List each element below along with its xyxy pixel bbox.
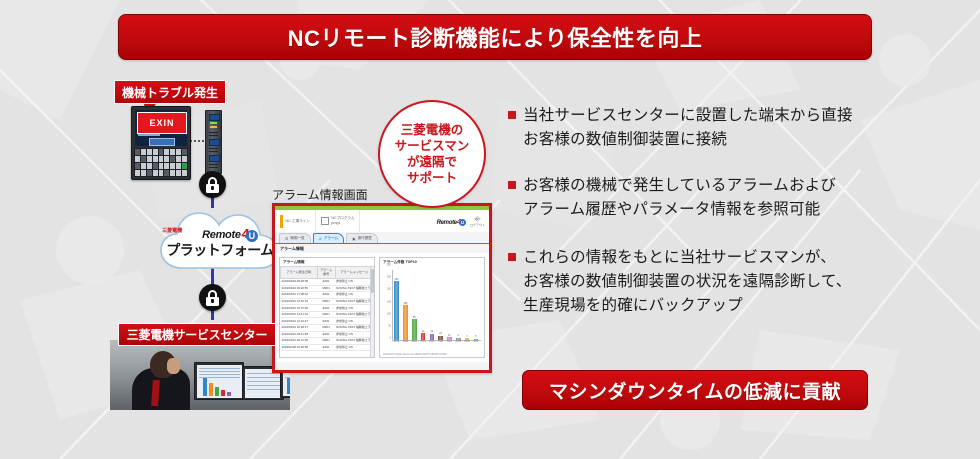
tab-operation-history-label: 操作履歴 (358, 236, 372, 241)
chart-bar-value-label: 26 (429, 330, 434, 333)
service-center-label: 三菱電機サービスセンター (118, 323, 276, 346)
app-logo-u-badge: U (459, 219, 466, 226)
alarm-screen-caption: アラーム情報画面 (272, 186, 368, 203)
bullet-3-line-2: お客様の数値制御装置の状況を遠隔診断して、 (523, 270, 851, 294)
logout-label: ログアウト (470, 223, 485, 227)
chart-y-axis: 050100150200250300 (381, 268, 392, 341)
bottom-banner-text: マシンダウンタイムの低減に貢献 (549, 377, 841, 404)
bullet-1-line-1: 当社サービスセンターに設置した端末から直接 (523, 104, 853, 128)
chart-bar-rect (412, 319, 417, 340)
header-machine-item[interactable]: NC-工場ライン (275, 210, 316, 232)
chart-x-tick-label: P004 (447, 341, 452, 343)
nc-alarm-text: EXIN (149, 118, 174, 128)
chart-bar: 9A005 (455, 270, 460, 340)
chart-bar-value-label: 148 (403, 302, 408, 305)
list-icon: ☰ (285, 237, 288, 241)
bullet-item-1-text: 当社サービスセンターに設置した端末から直接 お客様の数値制御装置に接続 (523, 104, 853, 152)
nc-panel-screen: EXIN (135, 110, 187, 146)
nc-keypad[interactable] (134, 148, 188, 177)
lock-icon-lower (199, 284, 226, 311)
bullet-2-line-2: アラーム履歴やパラメータ情報を参照可能 (523, 198, 836, 222)
bullet-marker-icon (508, 181, 516, 189)
callout-line-2: サービスマン (395, 138, 470, 154)
chart-bar-value-label: 18 (438, 332, 443, 335)
chart-x-tick-label: B006 (464, 341, 469, 343)
chart-bar-rect (447, 337, 452, 340)
tab-operation-history[interactable]: ▣ 操作履歴 (346, 233, 378, 243)
network-router-device (205, 110, 222, 174)
chart-bar-rect (465, 338, 470, 340)
bullet-1-line-2: お客様の数値制御装置に接続 (523, 128, 853, 152)
cell-alarm-message: 非常停止 ON (335, 344, 373, 351)
bullet-item-3-text: これらの情報をもとに当社サービスマンが、 お客様の数値制御装置の状況を遠隔診断し… (523, 246, 851, 318)
app-content-area: アラーム情報 アラーム発生日時 アラーム番号 アラームメッセージ 2019/03… (275, 253, 489, 362)
alarm-count-chart-panel: アラーム件数 TOP10 050100150200250300 252EX011… (379, 257, 485, 358)
chart-y-tick: 50 (388, 324, 391, 327)
lock-icon-upper (199, 171, 226, 198)
chart-x-tick-label: A005 (455, 341, 460, 343)
logout-button[interactable]: ⎆ ログアウト (470, 216, 485, 227)
chart-title: アラーム件数 TOP10 (380, 258, 484, 265)
callout-line-1: 三菱電機の (401, 122, 464, 138)
alarm-information-screen: 2019/03/01 10:00 NC-工場ライン NCプログラム prog1 … (272, 203, 492, 373)
col-alarm-number: アラーム番号 (317, 267, 335, 279)
table-row[interactable]: 2019/02/28 16:30:58EX01非常停止 ON (281, 344, 374, 351)
alarm-table-body: 2019/03/02 09:28:08EX01非常停止 ON2019/03/02… (281, 279, 374, 351)
chart-bar-rect (403, 305, 408, 340)
chart-bar: 252EX01 (394, 270, 399, 340)
chart-bar-rect (421, 333, 426, 340)
service-support-callout: 三菱電機の サービスマン が遠隔で サポート (378, 100, 486, 208)
callout-line-3: が遠隔で (407, 154, 457, 170)
chart-y-tick: 150 (387, 300, 391, 303)
tab-alarm[interactable]: ⚠ アラーム (313, 233, 345, 243)
cloud-label-group: 三菱電機 Remote 4 U プラットフォーム (158, 206, 282, 272)
app-tab-bar: ☰ 稼働一覧 ⚠ アラーム ▣ 操作履歴 (275, 232, 489, 244)
chart-x-tick-label: Z101 (420, 341, 425, 343)
header-program-label: NCプログラム (331, 216, 354, 220)
chart-x-tick-label: T003 (438, 341, 443, 343)
chart-bar-value-label: 88 (411, 316, 416, 319)
chart-bar-value-label: 30 (420, 330, 425, 333)
chart-bar: 5C007 (473, 270, 478, 340)
bullet-item-1: 当社サービスセンターに設置した端末から直接 お客様の数値制御装置に接続 (508, 104, 908, 152)
chart-bar: 11P004 (447, 270, 452, 340)
bullet-item-3: これらの情報をもとに当社サービスマンが、 お客様の数値制御装置の状況を遠隔診断し… (508, 246, 908, 318)
machine-trouble-label-text: 機械トラブル発生 (122, 84, 218, 101)
machine-trouble-label: 機械トラブル発生 (114, 80, 226, 104)
bullet-marker-icon (508, 253, 516, 261)
col-alarm-message: アラームメッセージ (335, 267, 373, 279)
cloud-platform: 三菱電機 Remote 4 U プラットフォーム (158, 206, 282, 272)
chart-bar: 88M001 (411, 270, 416, 340)
alarm-table-header-row: アラーム発生日時 アラーム番号 アラームメッセージ (281, 267, 374, 279)
chart-bar-value-label: 11 (447, 334, 452, 337)
tab-operation-list-label: 稼働一覧 (290, 236, 304, 241)
cell-alarm-datetime: 2019/02/28 16:30:58 (281, 344, 318, 351)
chart-bar-rect (430, 334, 435, 340)
tab-alarm-label: アラーム (324, 236, 338, 241)
chart-x-tick-label: EX01 (394, 341, 399, 343)
chart-bar-value-label: 7 (464, 335, 469, 338)
history-icon: ▣ (352, 237, 355, 241)
chart-bar-value-label: 5 (473, 335, 478, 338)
chart-bar-value-label: 252 (394, 278, 399, 281)
bottom-banner: マシンダウンタイムの低減に貢献 (522, 370, 868, 410)
program-icon (321, 217, 329, 225)
chart-x-tick-label: MZ01 (403, 341, 408, 343)
nc-machine-panel: EXIN (131, 106, 191, 180)
tab-operation-list[interactable]: ☰ 稼働一覧 (279, 233, 311, 243)
header-program-item[interactable]: NCプログラム prog1 (316, 210, 361, 232)
service-center-label-text: 三菱電機サービスセンター (127, 326, 267, 343)
chart-x-tick-label: C007 (473, 341, 478, 343)
feature-bullet-list: 当社サービスセンターに設置した端末から直接 お客様の数値制御装置に接続 お客様の… (508, 104, 908, 340)
chart-bar: 30Z101 (420, 270, 425, 340)
bullet-2-line-1: お客様の機械で発生しているアラームおよび (523, 174, 836, 198)
chart-y-tick: 250 (387, 276, 391, 279)
chart-bar: 7B006 (464, 270, 469, 340)
title-banner-text: NCリモート診断機能により保全性を向上 (288, 21, 703, 53)
cloud-platform-text: プラットフォーム (166, 240, 274, 260)
monitor-left (194, 362, 244, 400)
chart-plot-area: 252EX01148MZ0188M00130Z10126S00218T00311… (392, 270, 481, 341)
nc-ok-button[interactable] (149, 138, 175, 146)
chart-bar: 26S002 (429, 270, 434, 340)
chart-bar: 18T003 (438, 270, 443, 340)
machine-router-link (190, 140, 206, 142)
table-scrollbar[interactable] (370, 267, 374, 357)
warning-icon: ⚠ (319, 237, 322, 241)
logo-u-badge: U (246, 230, 258, 242)
app-logo-remote-text: Remote (437, 220, 457, 226)
alarm-table-panel: アラーム情報 アラーム発生日時 アラーム番号 アラームメッセージ 2019/03… (279, 257, 375, 358)
alarm-table-title: アラーム情報 (280, 258, 374, 266)
machine-indicator-icon (280, 215, 283, 228)
header-program-value: prog1 (331, 221, 340, 225)
chart-x-tick-label: S002 (429, 341, 434, 343)
chart-y-tick: 300 (387, 264, 391, 267)
header-machine-name: NC-工場ライン (286, 219, 310, 224)
chart-y-tick: 100 (387, 312, 391, 315)
chart-y-tick: 0 (390, 337, 391, 340)
service-center-photo (110, 340, 290, 410)
bullet-3-line-3: 生産現場を的確にバックアップ (523, 294, 851, 318)
nc-status-line (138, 134, 160, 136)
brand-mark-icon: 三菱電機 (162, 227, 182, 234)
app-header: NC-工場ライン NCプログラム prog1 Remote 4 U ⎆ ログアウ… (275, 210, 489, 233)
chart-footer-note: 2019/03/01 Rights Reserved. MELDAS/MITSU… (383, 353, 447, 356)
cell-alarm-number: EX01 (317, 344, 335, 351)
chart-x-tick-label: M001 (411, 341, 416, 343)
remote4u-logo: 三菱電機 Remote 4 U (182, 226, 258, 239)
app-remote4u-logo: Remote 4 U ⎆ ログアウト (437, 216, 489, 227)
chart-bar-value-label: 9 (455, 334, 460, 337)
col-alarm-datetime: アラーム発生日時 (281, 267, 318, 279)
chart-bar-rect (456, 338, 461, 340)
title-banner: NCリモート診断機能により保全性を向上 (118, 14, 872, 60)
app-page-title: アラーム情報 (280, 246, 304, 252)
alarm-table: アラーム発生日時 アラーム番号 アラームメッセージ 2019/03/02 09:… (280, 266, 374, 351)
callout-line-4: サポート (407, 170, 457, 186)
chart-bar-rect (438, 336, 443, 340)
bullet-item-2: お客様の機械で発生しているアラームおよび アラーム履歴やパラメータ情報を参照可能 (508, 174, 908, 222)
logout-icon: ⎆ (475, 216, 481, 223)
chart-bar-rect (474, 339, 479, 340)
chart-bar: 148MZ01 (403, 270, 408, 340)
header-program-group: NCプログラム prog1 (331, 216, 354, 226)
bullet-item-2-text: お客様の機械で発生しているアラームおよび アラーム履歴やパラメータ情報を参照可能 (523, 174, 836, 222)
nc-alarm-dialog: EXIN (137, 112, 187, 134)
bullet-marker-icon (508, 111, 516, 119)
chart-y-tick: 200 (387, 288, 391, 291)
chart-bar-rect (394, 281, 399, 340)
bullet-3-line-1: これらの情報をもとに当社サービスマンが、 (523, 246, 851, 270)
